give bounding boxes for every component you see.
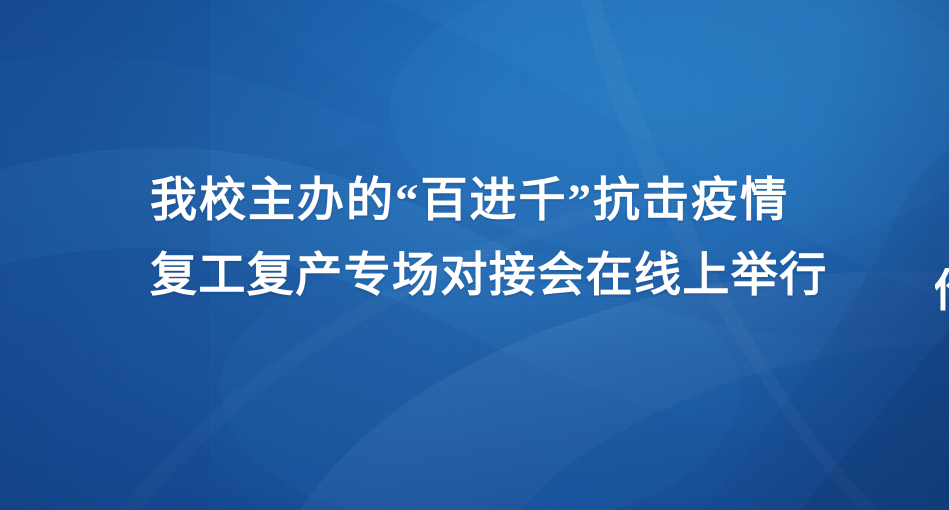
cropped-edge-character-glyph: 作	[935, 268, 949, 314]
headline-line-1: 我校主办的“百进千”抗击疫情	[150, 178, 830, 225]
cropped-edge-character: 作	[935, 268, 949, 314]
headline-line-2: 复工复产专场对接会在线上举行	[150, 253, 830, 300]
headline: 我校主办的“百进千”抗击疫情 复工复产专场对接会在线上举行	[150, 178, 830, 300]
banner-root: 我校主办的“百进千”抗击疫情 复工复产专场对接会在线上举行 作	[0, 0, 949, 510]
